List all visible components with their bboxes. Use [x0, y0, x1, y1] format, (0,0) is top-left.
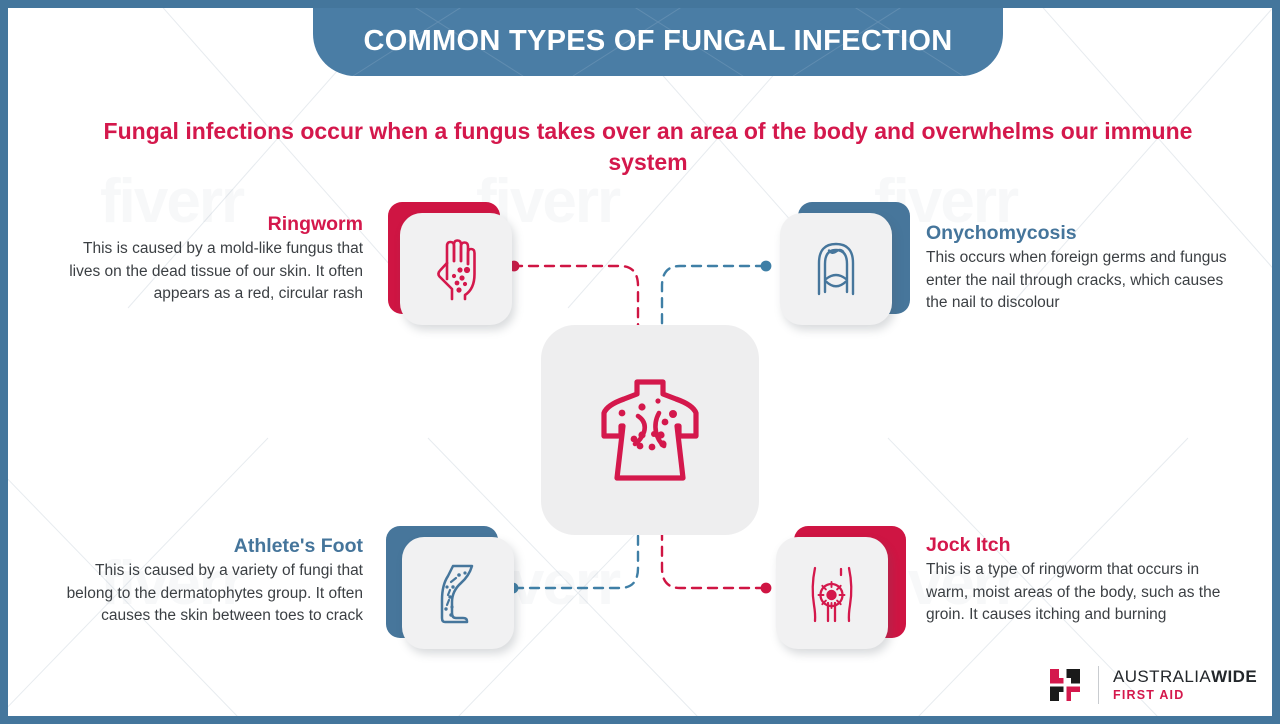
logo-brand-part1: AUSTRALIA: [1113, 667, 1211, 686]
card-face: [400, 213, 512, 325]
logo-text: AUSTRALIAWIDE FIRST AID: [1110, 668, 1257, 702]
section-body: This occurs when foreign germs and fungu…: [926, 247, 1231, 315]
section-body: This is a type of ringworm that occurs i…: [926, 559, 1231, 627]
logo-tagline: FIRST AID: [1113, 689, 1257, 702]
connector-ringworm: [509, 261, 638, 330]
connector-onychomycosis: [662, 261, 771, 330]
page-title: COMMON TYPES OF FUNGAL INFECTION: [363, 17, 952, 58]
torso-rash-icon: [580, 360, 720, 500]
groin-icon: [803, 561, 861, 625]
section-title: Onychomycosis: [926, 220, 1231, 246]
hand-rash-icon: [427, 237, 485, 301]
section-title: Ringworm: [58, 211, 363, 237]
subtitle: Fungal infections occur when a fungus ta…: [68, 116, 1228, 178]
section-body: This is caused by a mold-like fungus tha…: [58, 238, 363, 306]
card-face: [776, 537, 888, 649]
card-face: [780, 213, 892, 325]
section-title: Athlete's Foot: [58, 533, 363, 559]
fingernail-icon: [808, 237, 864, 301]
header-banner: COMMON TYPES OF FUNGAL INFECTION: [313, 8, 1003, 76]
infographic-canvas: fiverr fiverr fiverr fiverr fiverr fiver…: [8, 8, 1272, 716]
logo-divider: [1098, 666, 1099, 704]
section-onychomycosis: Onychomycosis This occurs when foreign g…: [926, 220, 1231, 315]
section-athletes-foot: Athlete's Foot This is caused by a varie…: [58, 533, 363, 628]
section-title: Jock Itch: [926, 532, 1231, 558]
section-ringworm: Ringworm This is caused by a mold-like f…: [58, 211, 363, 306]
infographic-page: fiverr fiverr fiverr fiverr fiverr fiver…: [0, 0, 1280, 724]
leg-foot-rash-icon: [430, 560, 486, 626]
logo-brand-part2: WIDE: [1211, 667, 1257, 686]
center-card: [541, 325, 759, 535]
section-body: This is caused by a variety of fungi tha…: [58, 560, 363, 628]
cross-quadrant-logo-icon: [1043, 663, 1087, 707]
card-face: [402, 537, 514, 649]
section-jock-itch: Jock Itch This is a type of ringworm tha…: [926, 532, 1231, 627]
brand-logo[interactable]: AUSTRALIAWIDE FIRST AID: [1043, 663, 1257, 707]
logo-brand-name: AUSTRALIAWIDE: [1113, 668, 1257, 685]
connector-jock-itch: [662, 530, 771, 593]
